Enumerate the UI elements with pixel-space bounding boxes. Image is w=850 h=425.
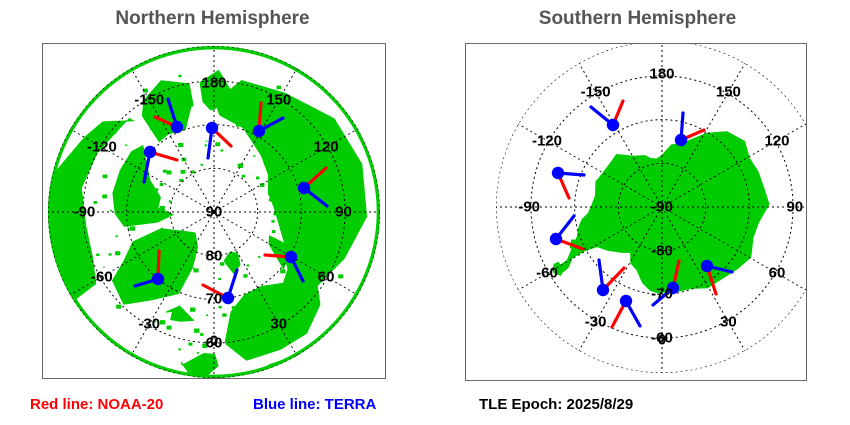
legend-blue-line: Blue line: TERRA <box>253 396 376 413</box>
panel-southern-hemisphere: Southern Hemisphere -60-3003060901201501… <box>425 0 850 425</box>
polar-map-south <box>466 44 806 380</box>
panel-title-south: Southern Hemisphere <box>425 8 850 30</box>
map-area-north <box>43 44 385 378</box>
plot-frame-south: -60-300306090120150180-150-120-90-80-70-… <box>465 43 807 381</box>
panel-northern-hemisphere: Northern Hemisphere 180-150-120-90-60-30… <box>0 0 425 425</box>
panel-title-north: Northern Hemisphere <box>0 8 425 30</box>
figure-root: Northern Hemisphere 180-150-120-90-60-30… <box>0 0 850 425</box>
legend-tle-epoch: TLE Epoch: 2025/8/29 <box>479 396 633 413</box>
plot-frame-north: 180-150-120-90-60-3003060901201508070609… <box>42 43 386 379</box>
map-area-south <box>466 44 806 380</box>
legend-red-line: Red line: NOAA-20 <box>30 396 163 413</box>
polar-map-north <box>43 44 385 378</box>
